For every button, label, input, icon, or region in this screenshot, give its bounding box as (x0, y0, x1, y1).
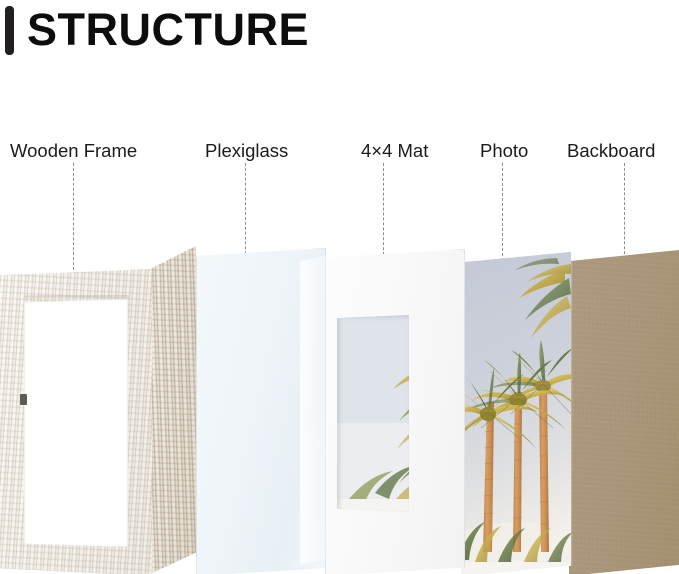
label-wooden-frame: Wooden Frame (10, 140, 137, 162)
photo-palm-trees-illustration (461, 252, 571, 574)
label-mat: 4×4 Mat (361, 140, 428, 162)
label-plexiglass: Plexiglass (205, 140, 288, 162)
structure-diagram-page: STRUCTURE Wooden Frame Plexiglass 4×4 Ma… (0, 0, 679, 574)
label-backboard: Backboard (567, 140, 655, 162)
layer-backboard (569, 250, 679, 574)
exploded-layer-stack (0, 230, 679, 574)
label-photo: Photo (480, 140, 528, 162)
wooden-frame-side-face (150, 246, 196, 574)
wooden-frame-opening (24, 299, 128, 547)
layer-photo (461, 252, 571, 574)
wooden-frame-top-bevel (24, 295, 129, 300)
title-accent-bar (5, 6, 14, 55)
plexiglass-sheen-highlight (300, 255, 326, 565)
mat-window-photo-peek (337, 315, 409, 512)
page-title: STRUCTURE (27, 2, 309, 58)
layer-wooden-frame (0, 246, 196, 574)
page-header: STRUCTURE (0, 0, 679, 70)
wooden-frame-hanger-clip (20, 394, 27, 405)
mat-window-opening (337, 315, 409, 512)
